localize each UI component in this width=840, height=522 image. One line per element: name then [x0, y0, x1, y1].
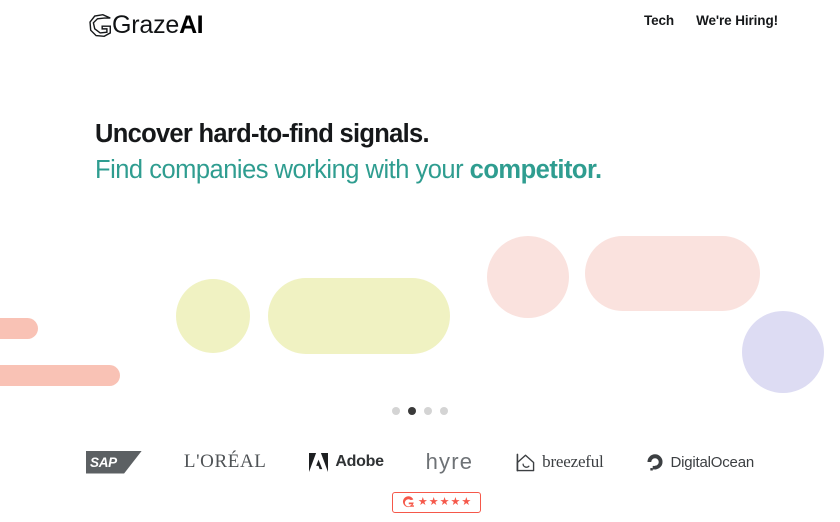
- pink-pill: [585, 236, 760, 311]
- client-logo-sap[interactable]: SAP: [86, 446, 142, 478]
- breezeful-label: breezeful: [542, 452, 603, 472]
- g2-logo-icon: [402, 496, 415, 509]
- carousel-dots: [0, 407, 840, 415]
- headline-secondary-prefix: Find companies working with your: [95, 156, 470, 184]
- digitalocean-droplet-icon: [646, 453, 664, 471]
- carousel-dot-3[interactable]: [424, 407, 432, 415]
- logo-wordmark: Graze: [112, 13, 179, 38]
- g2-star-rating: ★★★★★: [418, 497, 471, 508]
- logo-suffix: AI: [179, 13, 203, 38]
- salmon-bar-upper-left: [0, 318, 38, 339]
- g2-star-1: ★: [418, 497, 428, 508]
- g2-star-2: ★: [429, 497, 439, 508]
- g2-review-badge[interactable]: ★★★★★: [392, 492, 481, 513]
- yellow-pill: [268, 278, 450, 354]
- hyre-wordmark-icon: hyre: [426, 449, 474, 475]
- hero-headline: Uncover hard-to-find signals. Find compa…: [95, 116, 602, 188]
- sap-label: SAP: [90, 455, 117, 470]
- breezeful-house-icon: [515, 452, 536, 473]
- g2-star-3: ★: [440, 497, 450, 508]
- sap-parallelogram-icon: SAP: [86, 451, 142, 474]
- salmon-bar-lower-left: [0, 365, 120, 386]
- carousel-dot-2[interactable]: [408, 407, 416, 415]
- yellow-circle: [176, 279, 250, 353]
- client-logo-loreal[interactable]: L'ORÉAL: [184, 446, 267, 478]
- lavender-circle: [742, 311, 824, 393]
- nav-link-were-hiring[interactable]: We're Hiring!: [696, 13, 778, 28]
- client-logo-strip: SAP L'ORÉAL Adobe hyre: [0, 442, 840, 482]
- decorative-blob-canvas: [0, 0, 840, 430]
- headline-line-primary: Uncover hard-to-find signals.: [95, 116, 602, 152]
- site-header: Graze AI Tech We're Hiring!: [0, 0, 840, 56]
- adobe-label: Adobe: [335, 453, 383, 471]
- nav-link-tech[interactable]: Tech: [644, 13, 674, 28]
- carousel-dot-4[interactable]: [440, 407, 448, 415]
- headline-line-secondary: Find companies working with your competi…: [95, 152, 602, 188]
- graze-g-polygon-icon: [88, 12, 115, 39]
- loreal-wordmark-icon: L'ORÉAL: [184, 451, 267, 473]
- client-logo-breezeful[interactable]: breezeful: [515, 446, 603, 478]
- client-logo-digitalocean[interactable]: DigitalOcean: [646, 446, 754, 478]
- client-logo-hyre[interactable]: hyre: [426, 446, 474, 478]
- landing-page: Graze AI Tech We're Hiring! Uncover hard…: [0, 0, 840, 522]
- g2-star-4: ★: [450, 497, 460, 508]
- pink-circle: [487, 236, 569, 318]
- primary-nav: Tech We're Hiring!: [644, 13, 778, 28]
- g2-star-5: ★: [461, 497, 471, 508]
- brand-logo[interactable]: Graze AI: [88, 8, 203, 42]
- digitalocean-label: DigitalOcean: [671, 454, 754, 471]
- client-logo-adobe[interactable]: Adobe: [308, 446, 383, 478]
- headline-secondary-emphasis: competitor.: [470, 156, 602, 184]
- carousel-dot-1[interactable]: [392, 407, 400, 415]
- adobe-a-icon: [308, 453, 329, 472]
